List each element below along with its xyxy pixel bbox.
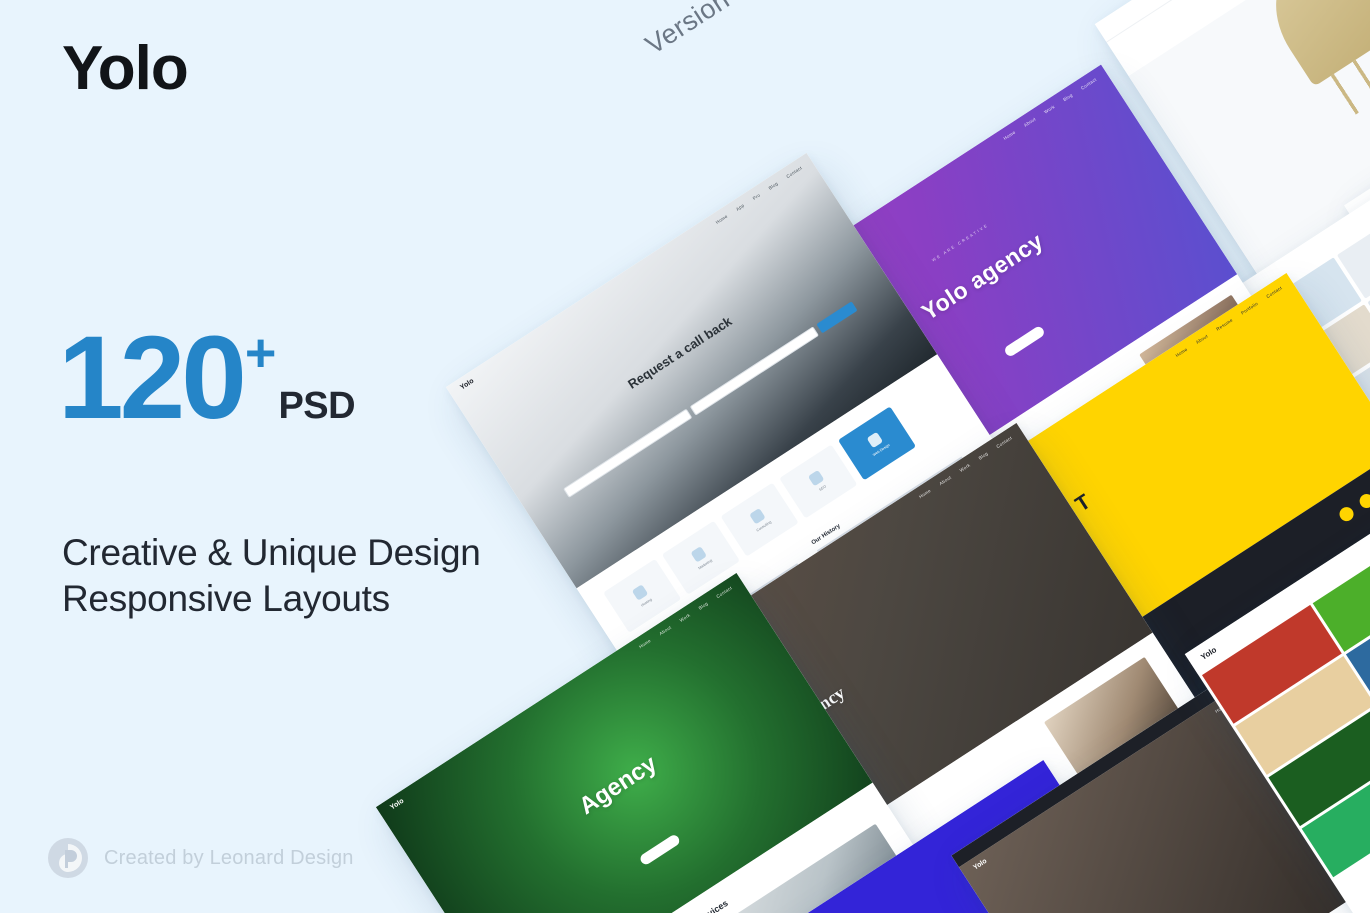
consulting-icon bbox=[749, 508, 766, 525]
left-info-panel: Yolo 120 + PSD Creative & Unique Design … bbox=[0, 0, 470, 913]
tagline: Creative & Unique Design Responsive Layo… bbox=[62, 530, 481, 623]
nav-item[interactable]: Blog bbox=[1062, 93, 1073, 103]
nav-item[interactable]: Home bbox=[918, 488, 932, 499]
credit-block: Created by Leonard Design bbox=[48, 838, 354, 878]
nav-item[interactable]: Pro bbox=[752, 192, 761, 200]
nav-item[interactable]: About bbox=[1023, 116, 1037, 127]
nav-item[interactable]: Home bbox=[638, 638, 652, 649]
hero-cta-button[interactable] bbox=[638, 833, 681, 866]
mockup-logo: Yolo bbox=[1199, 645, 1218, 662]
nav-item[interactable]: App bbox=[735, 203, 745, 212]
seo-icon bbox=[808, 470, 825, 487]
psd-count-block: 120 + PSD bbox=[58, 322, 355, 434]
nav-item[interactable]: Work bbox=[1043, 104, 1055, 115]
nav-item[interactable]: Contact bbox=[715, 585, 732, 599]
nav-item[interactable]: Home bbox=[1003, 130, 1017, 141]
nav-item[interactable]: Blog bbox=[768, 181, 779, 191]
nav-item[interactable]: About bbox=[1195, 333, 1209, 344]
skill-badge-icon bbox=[1357, 491, 1370, 510]
brand-title: Yolo bbox=[62, 38, 188, 100]
mockup-navbar[interactable]: Home App Pro Blog Contact bbox=[460, 165, 803, 390]
nav-item[interactable]: Contact bbox=[1080, 77, 1097, 91]
tagline-line-1: Creative & Unique Design bbox=[62, 530, 481, 576]
tagline-line-2: Responsive Layouts bbox=[62, 576, 481, 622]
marketing-icon bbox=[690, 546, 707, 563]
hero-cta-button[interactable] bbox=[1003, 325, 1046, 358]
nav-item[interactable]: Contact bbox=[1265, 285, 1282, 299]
send-button[interactable] bbox=[816, 301, 857, 333]
nav-item[interactable]: Blog bbox=[698, 601, 709, 611]
service-tile[interactable]: SEO bbox=[779, 444, 857, 518]
hosting-icon bbox=[632, 584, 649, 601]
psd-count-number: 120 bbox=[58, 322, 243, 434]
nav-item[interactable]: Contact bbox=[995, 435, 1012, 449]
service-tile-active[interactable]: Web Design bbox=[838, 406, 916, 480]
leonard-logo-icon bbox=[48, 838, 88, 878]
nav-item[interactable]: Home bbox=[715, 214, 729, 225]
skill-badge-icon bbox=[1337, 504, 1356, 523]
mockup-logo: Yolo bbox=[972, 858, 988, 872]
nav-item[interactable]: Resume bbox=[1215, 317, 1233, 331]
nav-item[interactable]: Portfolio bbox=[1240, 301, 1259, 316]
service-tile[interactable]: Consulting bbox=[721, 483, 799, 557]
psd-count-suffix: PSD bbox=[278, 385, 355, 428]
nav-item[interactable]: Work bbox=[679, 612, 691, 623]
credit-text: Created by Leonard Design bbox=[104, 847, 354, 870]
nav-item[interactable]: About bbox=[658, 625, 672, 636]
nav-item[interactable]: Contact bbox=[785, 165, 802, 179]
nav-item[interactable]: Home bbox=[1175, 347, 1189, 358]
nav-item[interactable]: About bbox=[938, 475, 952, 486]
nav-item[interactable]: Blog bbox=[978, 451, 989, 461]
webdesign-icon bbox=[867, 432, 884, 449]
nav-item[interactable]: Work bbox=[959, 462, 971, 473]
psd-count-plus: + bbox=[245, 326, 277, 380]
